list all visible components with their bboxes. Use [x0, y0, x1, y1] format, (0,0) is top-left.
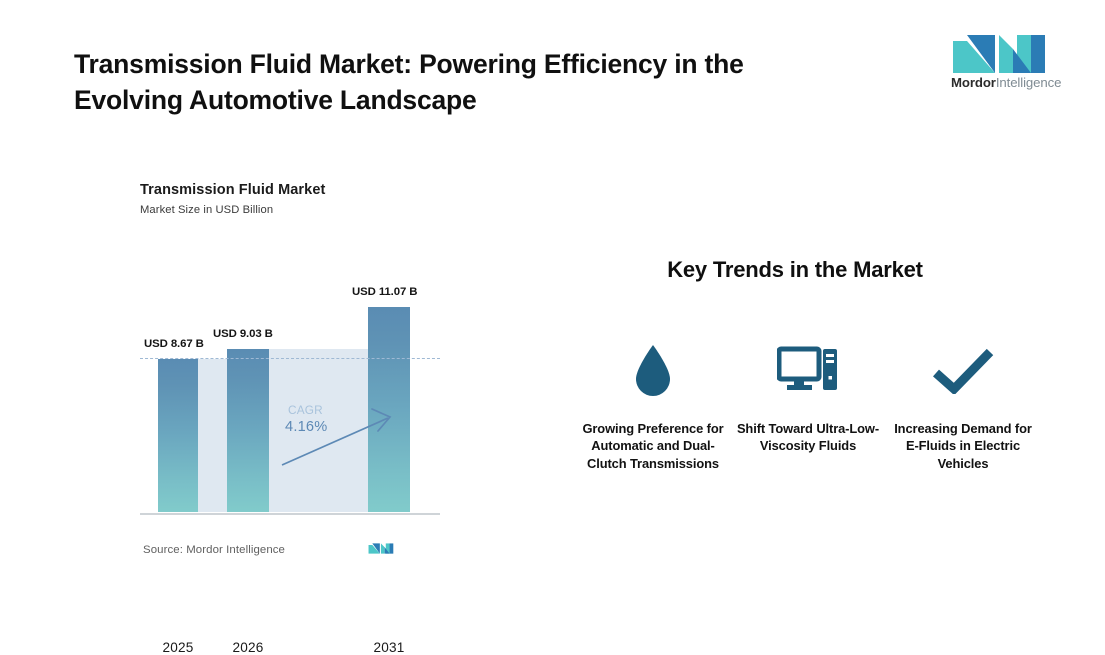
logo-brand-text: Mordor [951, 75, 996, 90]
trend-item-1: Growing Preference for Automatic and Dua… [578, 340, 728, 472]
market-size-chart: Transmission Fluid Market Market Size in… [140, 182, 440, 562]
plot-band-gap-1 [198, 359, 227, 512]
trend-item-3: Increasing Demand for E-Fluids in Electr… [888, 340, 1038, 472]
bar-value-label-2031: USD 11.07 B [352, 286, 417, 298]
reference-dashed-line [140, 358, 440, 359]
cagr-growth-arrow-icon [280, 407, 410, 469]
chart-plot-area: USD 8.67 B USD 9.03 B USD 11.07 B CAGR 4… [140, 307, 440, 512]
trend-item-2: Shift Toward Ultra-Low-Viscosity Fluids [733, 340, 883, 455]
x-axis-label-2025: 2025 [148, 640, 208, 655]
water-droplet-icon [578, 340, 728, 402]
logo-sub-text: Intelligence [996, 75, 1062, 90]
mordor-m-logo-icon [951, 31, 1055, 73]
mordor-m-small-logo-icon [368, 540, 396, 556]
mordor-intelligence-logo: MordorIntelligence [951, 31, 1055, 91]
bar-value-label-2025: USD 8.67 B [144, 338, 204, 350]
x-axis-line [140, 513, 440, 515]
logo-wordmark: MordorIntelligence [951, 76, 1055, 89]
chart-subtitle: Market Size in USD Billion [140, 204, 440, 216]
page-title: Transmission Fluid Market: Powering Effi… [74, 46, 844, 119]
x-axis-label-2026: 2026 [218, 640, 278, 655]
chart-title: Transmission Fluid Market [140, 182, 440, 198]
bar-2026 [227, 349, 269, 512]
trend-label-2: Shift Toward Ultra-Low-Viscosity Fluids [733, 420, 883, 455]
trend-label-3: Increasing Demand for E-Fluids in Electr… [888, 420, 1038, 472]
desktop-computer-icon [733, 340, 883, 402]
bar-value-label-2026: USD 9.03 B [213, 328, 273, 340]
infographic-page: Transmission Fluid Market: Powering Effi… [0, 0, 1105, 625]
trend-label-1: Growing Preference for Automatic and Dua… [578, 420, 728, 472]
chart-source: Source: Mordor Intelligence [143, 544, 285, 556]
bar-2025 [158, 359, 198, 512]
x-axis-label-2031: 2031 [359, 640, 419, 655]
checkmark-icon [888, 340, 1038, 402]
key-trends-heading: Key Trends in the Market [640, 257, 950, 283]
